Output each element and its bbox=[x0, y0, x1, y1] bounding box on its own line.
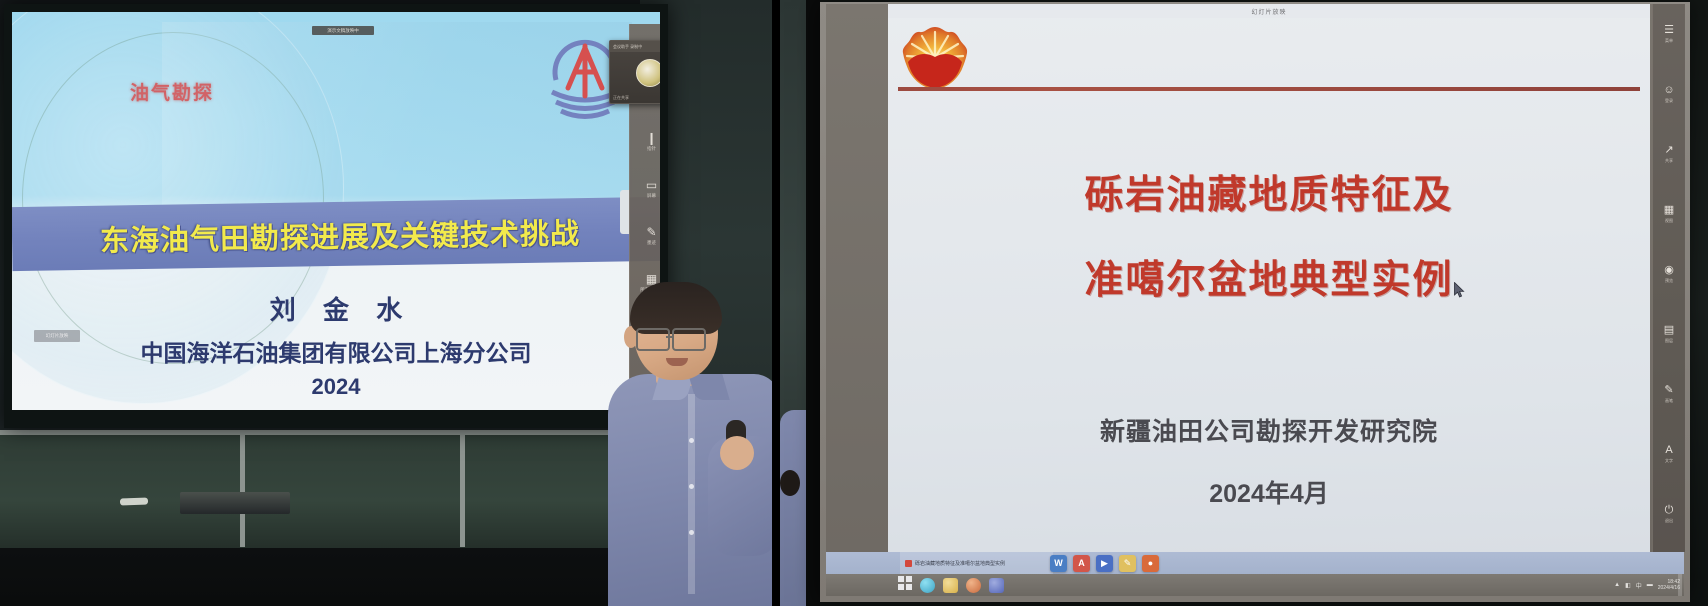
eye-icon: ◉ bbox=[1664, 265, 1674, 276]
record-app-icon[interactable]: ● bbox=[1142, 555, 1159, 572]
right-projected-slide: 砾岩油藏地质特征及 准噶尔盆地典型实例 新疆油田公司勘探开发研究院 2024年4… bbox=[888, 4, 1650, 552]
pdf-app-icon[interactable]: A bbox=[1073, 555, 1090, 572]
slide-author: 刘 金 水 bbox=[12, 290, 660, 327]
person-icon: ☺ bbox=[1663, 85, 1674, 96]
share-icon: ↗ bbox=[1664, 145, 1673, 156]
slide-kicker: 油气勘探 bbox=[130, 78, 214, 105]
store-app-icon[interactable] bbox=[966, 578, 981, 593]
pointer-icon: ❙ bbox=[646, 132, 656, 144]
toolbar-item-pen[interactable]: ✎ 画笔 bbox=[1653, 364, 1685, 424]
page-title-line-2: 准噶尔盆地典型实例 bbox=[888, 249, 1650, 305]
chalk-tray bbox=[180, 492, 290, 514]
ime-icon[interactable]: 中 bbox=[1636, 581, 1642, 590]
pen-icon: ✎ bbox=[646, 226, 656, 238]
start-tile bbox=[898, 584, 904, 590]
shirt-button bbox=[689, 438, 694, 443]
floating-window-footer: 正在共享 bbox=[613, 95, 629, 101]
toolbar-item-pen[interactable]: ✎ 墨迹 bbox=[630, 212, 660, 259]
slideshow-status-tag: 演示文稿放映中 bbox=[312, 26, 374, 35]
layers-icon: ▤ bbox=[1664, 325, 1674, 336]
pen-icon: ✎ bbox=[1664, 385, 1673, 396]
start-tile bbox=[906, 584, 912, 590]
screen-icon: ▭ bbox=[646, 179, 657, 191]
system-tray[interactable]: ▲ ◧ 中 ▬ 18:42 2024/4/16 bbox=[1570, 574, 1684, 596]
toolbar-item-grid[interactable]: ▦ 视图 bbox=[1653, 184, 1685, 244]
toolbar-drag-handle[interactable] bbox=[620, 190, 629, 234]
toolbar-item-exit[interactable]: ⏻ 退出 bbox=[1653, 484, 1685, 544]
volume-icon[interactable]: ◧ bbox=[1625, 582, 1631, 589]
page-title-line-1: 砾岩油藏地质特征及 bbox=[888, 164, 1650, 220]
tray-date: 2024/4/16 bbox=[1658, 585, 1680, 591]
eyeglasses bbox=[636, 328, 670, 351]
taskbar-quick-launch[interactable]: W A ▶ ✎ ● bbox=[1050, 552, 1159, 574]
presenter-head-partial bbox=[780, 470, 800, 496]
floating-window-title: 会议助手 录制中 bbox=[613, 44, 642, 50]
taskbar-window-title: 砾岩油藏地质特征及准噶尔盆地典型实例 bbox=[915, 560, 1005, 567]
toolbar-item-menu[interactable]: ☰ 菜单 bbox=[1653, 4, 1685, 64]
eyeglasses bbox=[672, 328, 706, 351]
meeting-emblem-icon bbox=[636, 59, 660, 87]
toolbar-item-pointer[interactable]: ❙ 指针 bbox=[630, 118, 660, 165]
left-video-panel: 演示文稿放映中 油气勘探 东海油气田勘探进展及关键技术挑战 刘 金 水 中国海洋… bbox=[0, 0, 780, 606]
battery-icon[interactable]: ▬ bbox=[1647, 582, 1653, 588]
shirt-placket bbox=[688, 394, 695, 594]
media-app-icon[interactable]: ▶ bbox=[1096, 555, 1113, 572]
slide-organization: 新疆油田公司勘探开发研究院 bbox=[888, 412, 1650, 448]
start-button[interactable] bbox=[898, 576, 912, 590]
note-app-icon[interactable]: ✎ bbox=[1119, 555, 1136, 572]
start-tile bbox=[898, 576, 904, 582]
blackboard-seam bbox=[460, 435, 465, 547]
petrochina-logo bbox=[902, 26, 968, 90]
eyeglasses-bridge bbox=[666, 336, 674, 338]
slide-year: 2024 bbox=[12, 374, 660, 400]
chalk-piece bbox=[120, 498, 148, 506]
taskbar-pinned-apps[interactable] bbox=[920, 574, 1004, 596]
desktop-left-margin bbox=[826, 4, 888, 552]
right-video-panel: 砾岩油藏地质特征及 准噶尔盆地典型实例 新疆油田公司勘探开发研究院 2024年4… bbox=[780, 0, 1708, 606]
toolbar-item-eye[interactable]: ◉ 预览 bbox=[1653, 244, 1685, 304]
slideshow-topbar: 幻灯片放映 bbox=[888, 4, 1650, 18]
powerpoint-icon bbox=[905, 560, 912, 567]
slide-date: 2024年4月 bbox=[888, 474, 1650, 510]
slideshow-topbar-text: 幻灯片放映 bbox=[1251, 7, 1286, 16]
wps-app-icon[interactable]: W bbox=[1050, 555, 1067, 572]
presenter-shoulder bbox=[780, 410, 808, 606]
slideshow-status-text: 演示文稿放映中 bbox=[327, 28, 359, 34]
text-icon: A bbox=[1665, 445, 1672, 456]
screen-bezel bbox=[806, 0, 820, 606]
slideshow-corner-chip: 幻灯片放映 bbox=[34, 330, 80, 342]
browser-app-icon[interactable] bbox=[920, 578, 935, 593]
toolbar-item-screen[interactable]: ▭ 屏幕 bbox=[630, 165, 660, 212]
menu-icon: ☰ bbox=[1664, 25, 1674, 36]
page-title: 东海油气田勘探进展及关键技术挑战 bbox=[30, 207, 651, 263]
start-tile bbox=[906, 576, 912, 582]
mouse-cursor bbox=[1454, 282, 1465, 298]
toolbar-item-share[interactable]: ↗ 共享 bbox=[1653, 124, 1685, 184]
blackboard-seam bbox=[240, 435, 245, 547]
lower-blackboard bbox=[0, 430, 660, 555]
header-rule bbox=[898, 87, 1640, 91]
slideshow-corner-chip-text: 幻灯片放映 bbox=[46, 333, 69, 339]
right-slide-toolbar[interactable]: ☰ 菜单 ☺ 登录 ↗ 共享 ▦ 视图 ◉ 预览 ▤ 图层 bbox=[1652, 4, 1685, 552]
shirt-button bbox=[689, 484, 694, 489]
toolbar-item-text[interactable]: A 文字 bbox=[1653, 424, 1685, 484]
network-icon[interactable]: ▲ bbox=[1614, 582, 1620, 588]
presenter-hair bbox=[630, 282, 722, 334]
floating-window-titlebar[interactable]: 会议助手 录制中 bbox=[610, 41, 660, 52]
left-projected-slide: 演示文稿放映中 油气勘探 东海油气田勘探进展及关键技术挑战 刘 金 水 中国海洋… bbox=[12, 12, 660, 410]
taskbar-open-window-button[interactable]: 砾岩油藏地质特征及准噶尔盆地典型实例 bbox=[900, 552, 1053, 574]
explorer-app-icon[interactable] bbox=[943, 578, 958, 593]
toolbar-item-layers[interactable]: ▤ 图层 bbox=[1653, 304, 1685, 364]
dual-panel-lecture-capture: 演示文稿放映中 油气勘探 东海油气田勘探进展及关键技术挑战 刘 金 水 中国海洋… bbox=[0, 0, 1708, 606]
toolbar-item-person[interactable]: ☺ 登录 bbox=[1653, 64, 1685, 124]
grid-icon: ▦ bbox=[1664, 205, 1674, 216]
chat-app-icon[interactable] bbox=[989, 578, 1004, 593]
exit-icon: ⏻ bbox=[1665, 505, 1674, 516]
show-desktop-button[interactable] bbox=[1678, 574, 1682, 596]
slide-organization: 中国海洋石油集团有限公司上海分公司 bbox=[12, 334, 660, 368]
presenter-speaker bbox=[600, 288, 780, 606]
floating-meeting-window[interactable]: 会议助手 录制中 正在共享 bbox=[609, 40, 660, 104]
presenter-hand bbox=[720, 436, 754, 470]
shirt-button bbox=[689, 530, 694, 535]
